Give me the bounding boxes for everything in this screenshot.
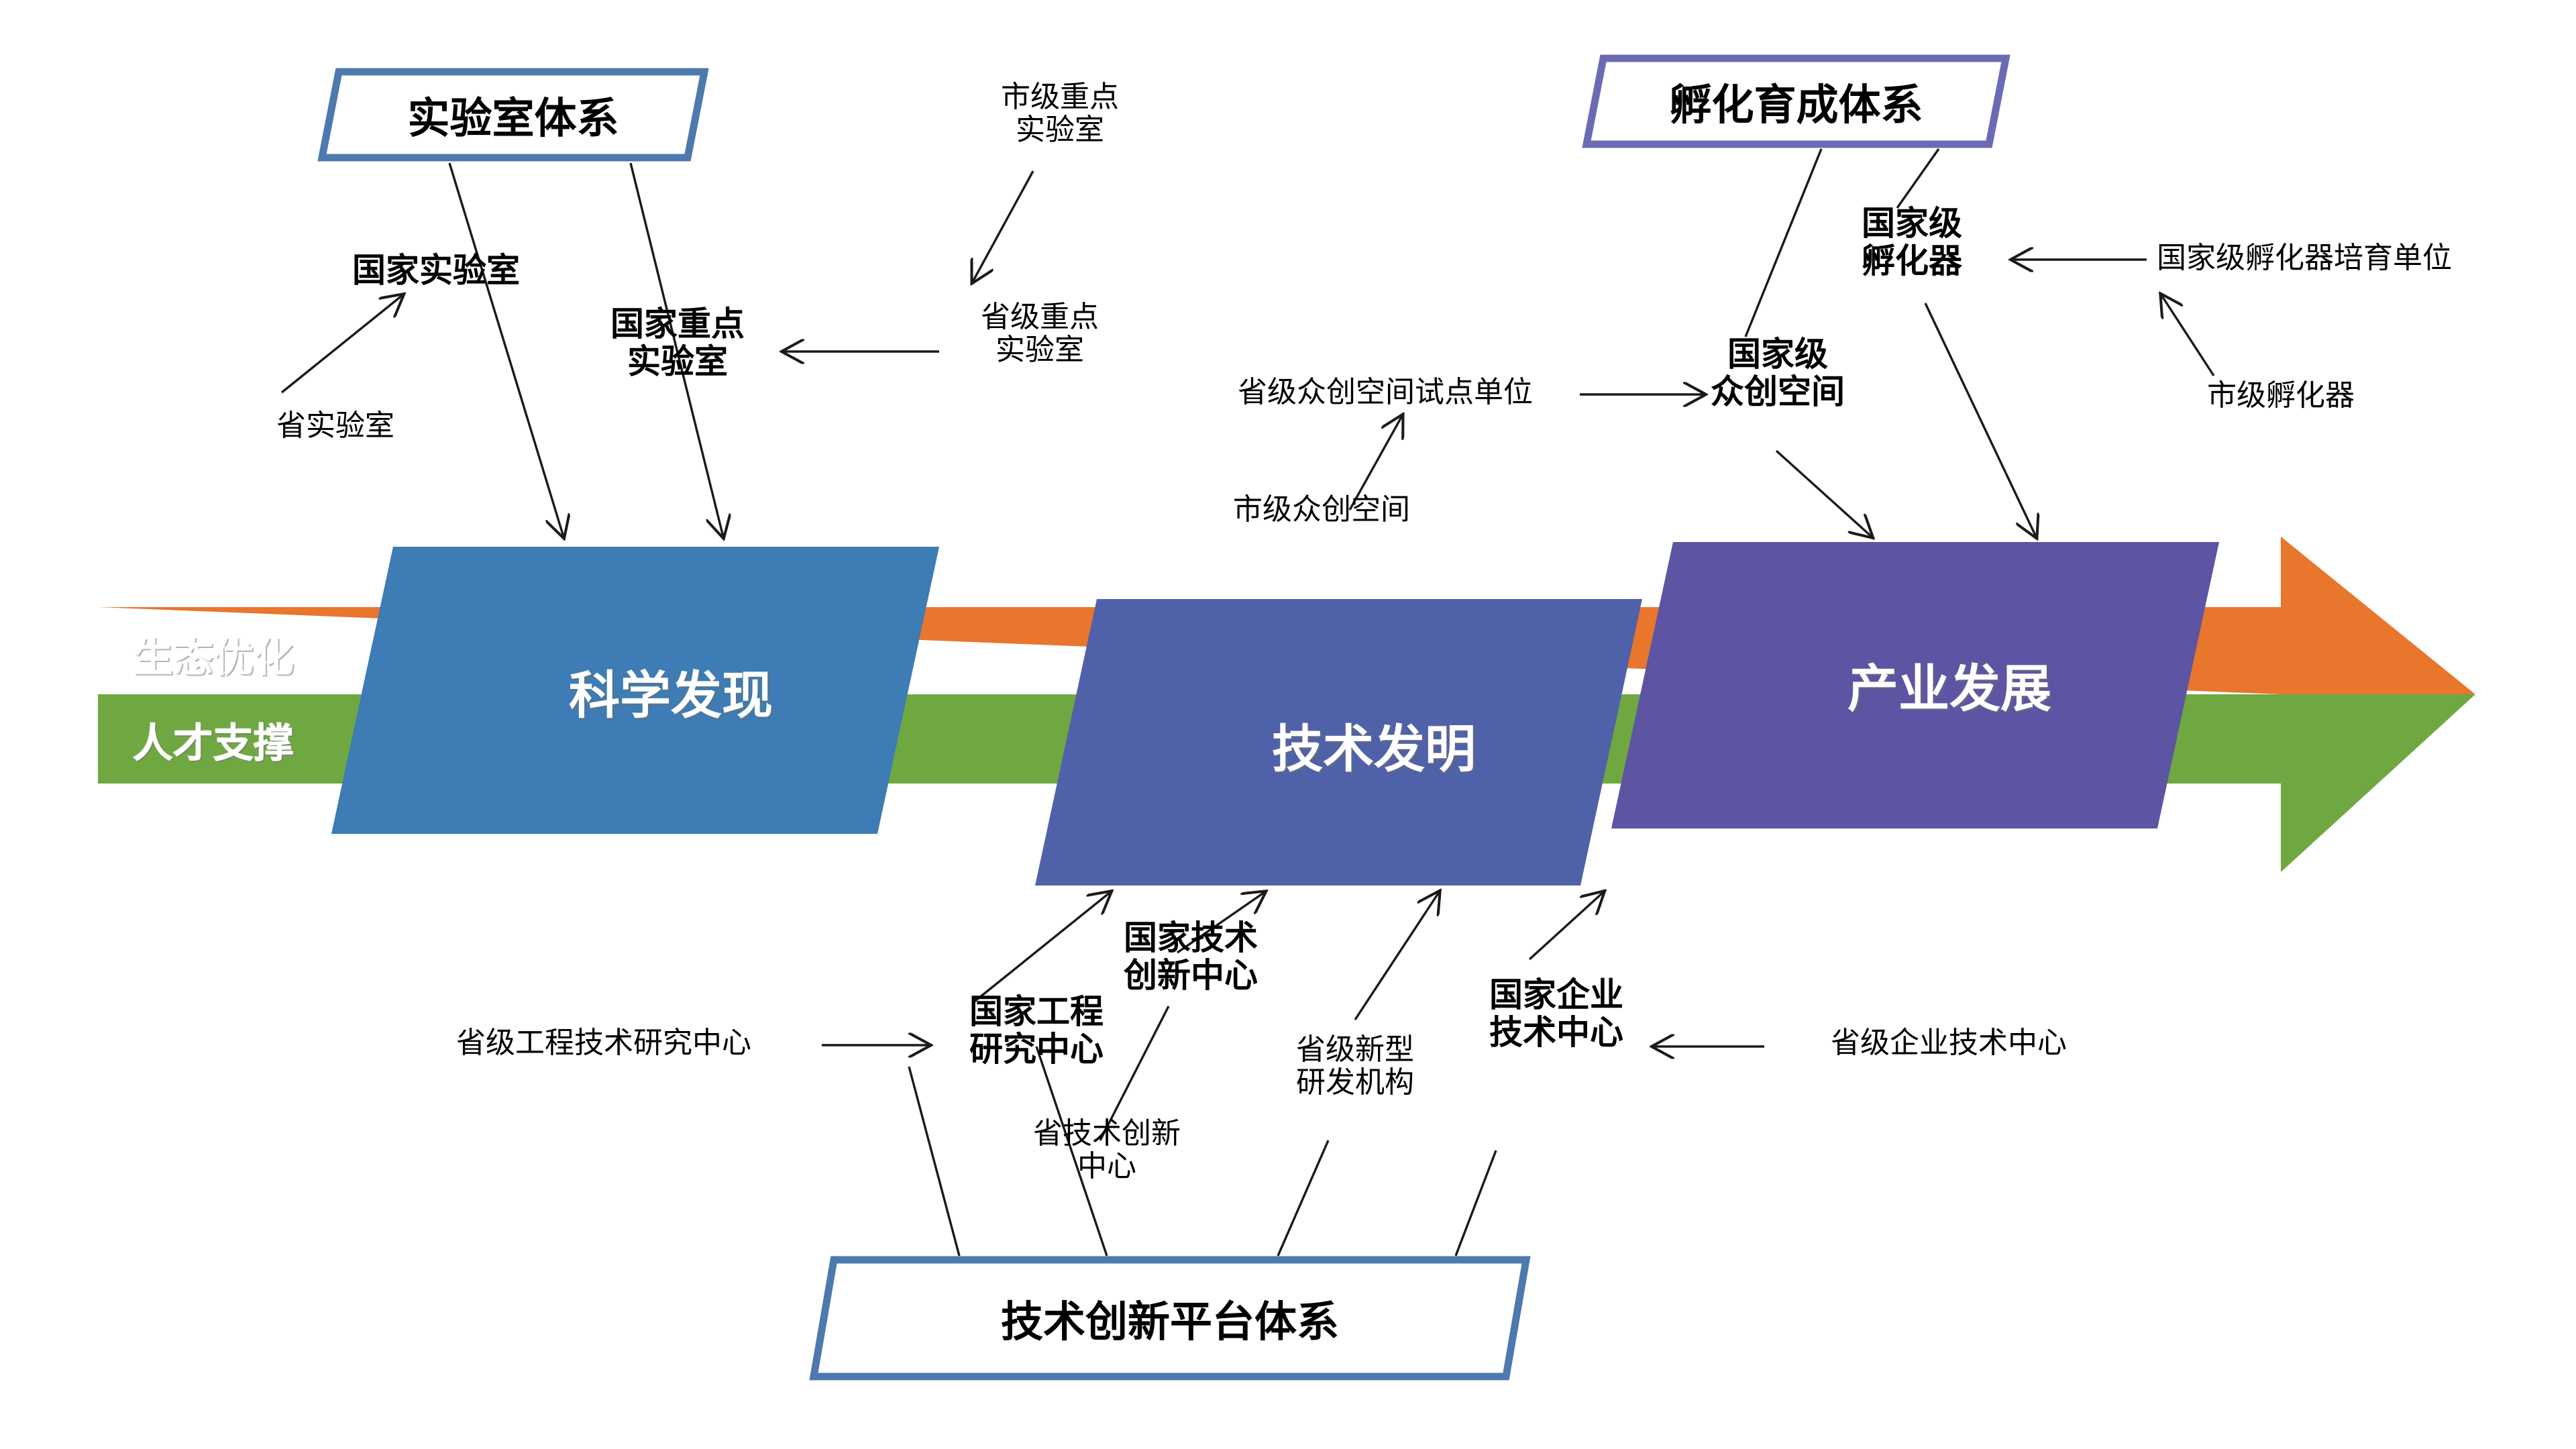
connector-city-incubator-to-cultivation-unit [2161, 295, 2214, 376]
system-title-incubation: 孵化育成体系 [1587, 58, 2006, 144]
band-label-talent-support: 人才支撑 [133, 711, 294, 769]
label-national-tech-innovation-center: 国家技术 创新中心 [1090, 919, 1291, 994]
connector-labsystem-to-stage1-a [449, 163, 563, 537]
connector-techplatform-to-new-rd [1278, 1140, 1328, 1256]
connector-techplatform-to-enterprise-center [1456, 1150, 1496, 1256]
label-province-enterprise-tech-center: 省级企业技术中心 [1761, 1026, 2137, 1059]
connector-enterprise-center-to-stage2 [1529, 892, 1603, 959]
connector-incubationsystem-to-incubator [1897, 149, 1939, 208]
diagram-canvas: 实验室体系 孵化育成体系 技术创新平台体系 科学发现 技术发明 产业发展 生态优… [0, 0, 2576, 1449]
connector-new-rd-to-stage2 [1355, 892, 1439, 1020]
label-national-key-lab: 国家重点 实验室 [570, 305, 785, 380]
label-national-incubator: 国家级 孵化器 [1811, 205, 2012, 280]
label-city-maker-space: 市级众创空间 [1201, 493, 1442, 526]
stage-label-technology-invention: 技术发明 [1253, 708, 1495, 782]
label-national-maker-space: 国家级 众创空间 [1677, 335, 1878, 411]
label-province-tech-innovation-center: 省技术创新 中心 [1000, 1117, 1214, 1183]
band-label-ecology-optimization: 生态优化 [133, 625, 294, 684]
label-province-engineering-center: 省级工程技术研究中心 [396, 1026, 812, 1059]
connector-makerspace-to-stage3 [1776, 451, 1872, 537]
label-city-incubator: 市级孵化器 [2180, 379, 2381, 412]
label-province-key-lab: 省级重点 实验室 [939, 301, 1140, 367]
stage-label-science-discovery: 科学发现 [550, 654, 792, 728]
system-title-lab: 实验室体系 [322, 72, 704, 158]
label-city-key-lab: 市级重点 实验室 [959, 80, 1161, 147]
label-national-lab: 国家实验室 [295, 252, 577, 289]
connector-techplatform-to-engineering-center [909, 1067, 959, 1256]
label-national-incubator-cultivation-unit: 国家级孵化器培育单位 [2157, 241, 2559, 274]
connector-city-keylab-to-province-keylab [973, 171, 1033, 282]
label-national-engineering-center: 国家工程 研究中心 [936, 993, 1137, 1068]
system-title-tech-platform: 技术创新平台体系 [814, 1260, 1526, 1377]
connector-incubator-to-stage3 [1925, 303, 2036, 537]
label-national-enterprise-tech-center: 国家企业 技术中心 [1456, 976, 1657, 1051]
label-province-lab: 省实验室 [235, 409, 436, 442]
label-province-new-rd-institution: 省级新型 研发机构 [1254, 1033, 1456, 1099]
connector-province-lab-to-national-lab [282, 295, 402, 392]
label-province-pilot-maker-space: 省级众创空间试点单位 [1187, 376, 1583, 409]
connector-incubationsystem-to-makerspace [1746, 149, 1821, 337]
stage-label-industry-development: 产业发展 [1829, 647, 2070, 721]
